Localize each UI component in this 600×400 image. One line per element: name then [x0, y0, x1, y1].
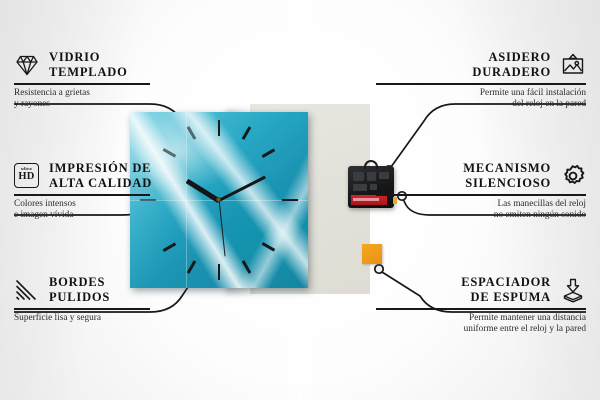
feature-title: BORDES PULIDOS: [49, 275, 110, 304]
mechanism-detail: [367, 172, 376, 181]
feature-description: Permite mantener una distancia uniforme …: [376, 313, 586, 336]
feature-divider: [14, 194, 150, 196]
gear-icon: [560, 163, 586, 189]
foam-spacer-part: [362, 244, 382, 264]
feature-header: ultra HD IMPRESIÓN DE ALTA CALIDAD: [14, 161, 224, 190]
feature-impresion-alta-calidad: ultra HD IMPRESIÓN DE ALTA CALIDAD Color…: [14, 161, 224, 222]
connector-node-right-3: [375, 265, 383, 273]
feature-header: ESPACIADOR DE ESPUMA: [376, 275, 586, 304]
diamond-icon: [14, 52, 40, 78]
clock-tick: [218, 120, 221, 136]
feature-title: MECANISMO SILENCIOSO: [463, 161, 551, 190]
feature-description: Permite una fácil instalación del reloj …: [376, 88, 586, 111]
feature-description: Resistencia a grietas y rayones: [14, 88, 224, 111]
connector-right-1: [391, 104, 586, 167]
feature-divider: [14, 83, 150, 85]
mechanism-detail: [353, 172, 364, 181]
feature-title: ASIDERO DURADERO: [472, 50, 551, 79]
feature-header: VIDRIO TEMPLADO: [14, 50, 224, 79]
infographic-canvas: VIDRIO TEMPLADO Resistencia a grietas y …: [0, 0, 600, 400]
feature-header: MECANISMO SILENCIOSO: [376, 161, 586, 190]
feature-header: ASIDERO DURADERO: [376, 50, 586, 79]
feature-vidrio-templado: VIDRIO TEMPLADO Resistencia a grietas y …: [14, 50, 224, 111]
feature-divider: [376, 308, 586, 310]
feature-divider: [376, 83, 586, 85]
mechanism-detail: [353, 184, 367, 191]
feature-title: ESPACIADOR DE ESPUMA: [461, 275, 551, 304]
feature-divider: [376, 194, 586, 196]
clock-tick: [282, 199, 298, 202]
feature-bordes-pulidos: BORDES PULIDOS Superficie lisa y segura: [14, 275, 224, 324]
feature-title: VIDRIO TEMPLADO: [49, 50, 128, 79]
feature-description: Colores intensos e imagen vívida: [14, 199, 224, 222]
feature-espaciador-de-espuma: ESPACIADOR DE ESPUMA Permite mantener un…: [376, 275, 586, 336]
feature-asidero-duradero: ASIDERO DURADERO Permite una fácil insta…: [376, 50, 586, 111]
feature-description: Superficie lisa y segura: [14, 313, 224, 324]
ultra-hd-main-text: HD: [18, 172, 34, 183]
ultra-hd-icon: ultra HD: [14, 163, 40, 189]
feature-mecanismo-silencioso: MECANISMO SILENCIOSO Las manecillas del …: [376, 161, 586, 222]
feature-title: IMPRESIÓN DE ALTA CALIDAD: [49, 161, 152, 190]
feature-description: Las manecillas del reloj no emiten ningú…: [376, 199, 586, 222]
feature-divider: [14, 308, 150, 310]
polished-edge-icon: [14, 277, 40, 303]
foam-spacer-icon: [560, 277, 586, 303]
picture-hanger-icon: [560, 52, 586, 78]
feature-header: BORDES PULIDOS: [14, 275, 224, 304]
